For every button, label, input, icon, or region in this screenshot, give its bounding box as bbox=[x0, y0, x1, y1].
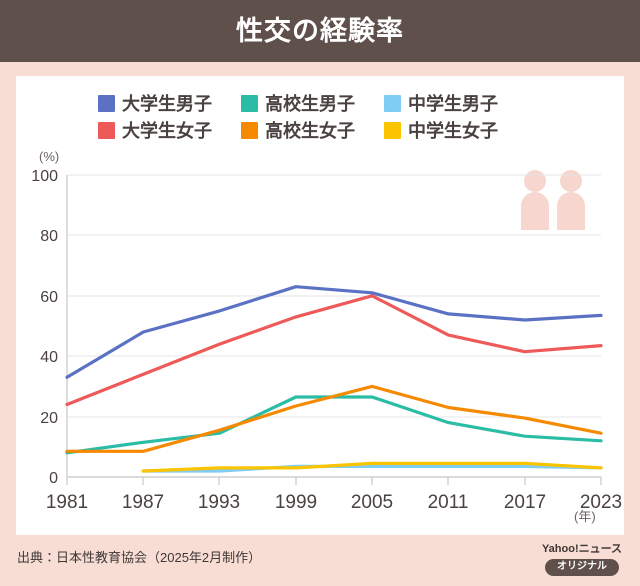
y-tick-label: 100 bbox=[16, 169, 58, 185]
infographic-page: 性交の経験率 大学生男子 高校生男子 中学生男子 大学生女子 bbox=[0, 0, 640, 586]
x-tick-label: 2017 bbox=[490, 493, 560, 512]
x-tick-label: 1981 bbox=[32, 493, 102, 512]
chart-line-2 bbox=[67, 397, 601, 453]
x-tick-label: 1993 bbox=[184, 493, 254, 512]
line-chart-svg bbox=[16, 76, 624, 535]
chart-gridlines bbox=[67, 175, 601, 417]
chart-card: 大学生男子 高校生男子 中学生男子 大学生女子 高校生女子 中学生女子 bbox=[16, 76, 624, 535]
chart-series-layer bbox=[67, 287, 601, 471]
x-tick-label: 2011 bbox=[413, 493, 483, 512]
chart-line-1 bbox=[67, 296, 601, 405]
y-tick-label: 0 bbox=[16, 471, 58, 487]
y-tick-label: 60 bbox=[16, 290, 58, 306]
x-tick-label: 1999 bbox=[261, 493, 331, 512]
page-title: 性交の経験率 bbox=[236, 18, 404, 45]
chart-line-0 bbox=[67, 287, 601, 378]
original-pill-label: オリジナル bbox=[545, 559, 619, 576]
y-tick-label: 40 bbox=[16, 350, 58, 366]
y-tick-label: 20 bbox=[16, 411, 58, 427]
y-tick-label: 80 bbox=[16, 229, 58, 245]
x-tick-label: 2005 bbox=[337, 493, 407, 512]
yahoo-brand-label: Yahoo!ニュース bbox=[540, 543, 624, 556]
chart-plot-area: (%) (年) bbox=[16, 76, 624, 535]
source-note: 出典：日本性教育協会（2025年2月制作） bbox=[17, 551, 261, 564]
header-bar: 性交の経験率 bbox=[0, 0, 640, 62]
x-tick-label: 2023 bbox=[566, 493, 636, 512]
yahoo-news-badge: Yahoo!ニュース オリジナル bbox=[540, 543, 624, 576]
x-tick-label: 1987 bbox=[108, 493, 178, 512]
